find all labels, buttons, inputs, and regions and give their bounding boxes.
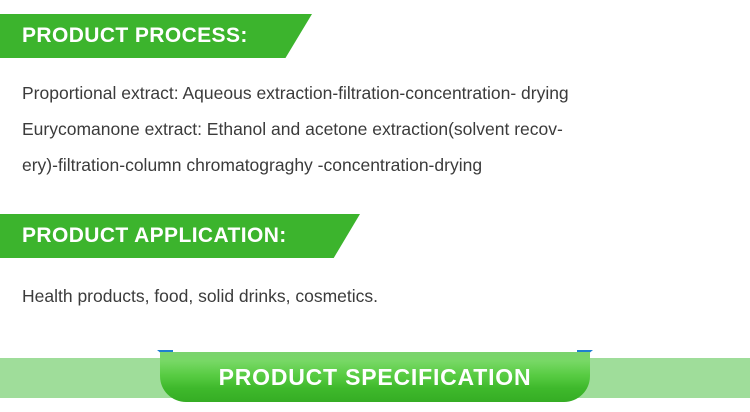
section-heading-product-application: PRODUCT APPLICATION: xyxy=(0,224,287,248)
section-banner-product-process: PRODUCT PROCESS: xyxy=(0,14,312,58)
product-process-line-3: ery)-filtration-column chromatograghy -c… xyxy=(22,147,569,183)
product-process-line-2: Eurycomanone extract: Ethanol and aceton… xyxy=(22,111,569,147)
section-heading-product-process: PRODUCT PROCESS: xyxy=(0,24,248,48)
product-description-page: PRODUCT PROCESS: Proportional extract: A… xyxy=(0,0,750,412)
section-banner-product-specification: PRODUCT SPECIFICATION xyxy=(160,352,590,402)
section-heading-product-specification: PRODUCT SPECIFICATION xyxy=(219,364,532,391)
product-application-body: Health products, food, solid drinks, cos… xyxy=(22,278,378,314)
product-process-line-1: Proportional extract: Aqueous extraction… xyxy=(22,75,569,111)
product-process-body: Proportional extract: Aqueous extraction… xyxy=(22,75,569,183)
product-specification-ribbon-group: PRODUCT SPECIFICATION xyxy=(0,350,750,412)
section-banner-product-application: PRODUCT APPLICATION: xyxy=(0,214,360,258)
product-application-line-1: Health products, food, solid drinks, cos… xyxy=(22,278,378,314)
